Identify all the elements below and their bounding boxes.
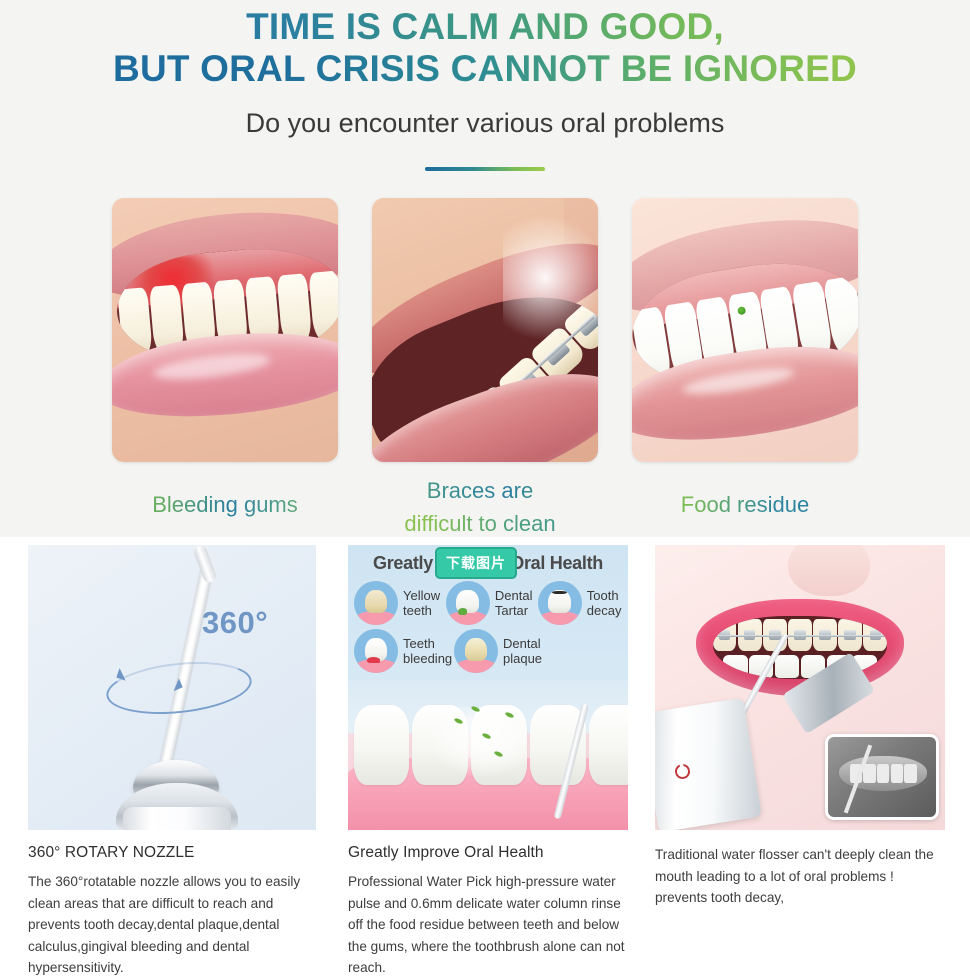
flosser-body — [123, 807, 231, 830]
teeth-bleeding-icon — [354, 629, 398, 673]
problem-photo-braces — [372, 198, 598, 462]
hero-section: TIME IS CALM AND GOOD, BUT ORAL CRISIS C… — [0, 0, 970, 537]
infographic-item-label: Teeth bleeding — [403, 636, 452, 666]
feature-body: The 360°rotatable nozzle allows you to e… — [28, 871, 316, 979]
feature-image-rotary-nozzle: 360° — [28, 545, 316, 830]
infographic-row: Yellow teeth Dental Tartar — [354, 581, 626, 625]
problem-caption-braces: Braces are difficult to clean — [360, 474, 600, 540]
infographic-item-label: Dental plaque — [503, 636, 542, 666]
download-image-watermark-badge[interactable]: 下载图片 — [435, 547, 517, 579]
feature-body: Professional Water Pick high-pressure wa… — [348, 871, 628, 979]
label-line-1: Dental — [503, 636, 542, 651]
nose — [788, 545, 869, 596]
infographic-icon-grid: Yellow teeth Dental Tartar — [354, 581, 626, 677]
hero-subtitle: Do you encounter various oral problems — [0, 108, 970, 139]
caption-text: Bleeding gums — [105, 488, 345, 521]
feature-image-oral-health-infographic: Greatly Improve Oral Health 下载图片 Yellow … — [348, 545, 628, 830]
problem-caption-food-residue: Food residue — [625, 488, 865, 521]
grayscale-inset-photo — [825, 734, 939, 820]
headline-line-2: BUT ORAL CRISIS CANNOT BE IGNORED — [0, 48, 970, 90]
problem-photo-bleeding-gums — [112, 198, 338, 462]
headline-line-1: TIME IS CALM AND GOOD, — [0, 6, 970, 48]
teeth-water-jet-illustration — [348, 680, 628, 830]
infographic-item-label: Dental Tartar — [495, 588, 533, 618]
problem-photo-food-residue — [632, 198, 858, 462]
label-line-2: decay — [587, 603, 622, 618]
label-line-1: Teeth — [403, 636, 452, 651]
infographic-item-dental-plaque: Dental plaque — [454, 629, 554, 673]
yellow-teeth-icon — [354, 581, 398, 625]
label-line-1: Tooth — [587, 588, 622, 603]
braces-photo-illustration — [372, 198, 598, 462]
infographic-item-yellow-teeth: Yellow teeth — [354, 581, 446, 625]
dental-tartar-icon — [446, 581, 490, 625]
caption-text-line-1: Braces are — [360, 474, 600, 507]
feature-heading: 360° ROTARY NOZZLE — [28, 844, 316, 862]
infographic-item-teeth-bleeding: Teeth bleeding — [354, 629, 454, 673]
degree-badge-label: 360° — [202, 605, 268, 641]
infographic-item-label: Yellow teeth — [403, 588, 440, 618]
caption-text: Food residue — [625, 488, 865, 521]
gums-photo-illustration — [112, 198, 338, 462]
photo-flash-highlight — [503, 214, 598, 341]
problem-caption-bleeding-gums: Bleeding gums — [105, 488, 345, 521]
archwire — [713, 635, 887, 637]
caption-text-line-2: difficult to clean — [360, 507, 600, 540]
label-line-2: plaque — [503, 651, 542, 666]
feature-rotary-nozzle: 360° 360° ROTARY NOZZLE The 360°rotatabl… — [28, 545, 316, 979]
page-title: TIME IS CALM AND GOOD, BUT ORAL CRISIS C… — [0, 6, 970, 90]
label-line-2: teeth — [403, 603, 440, 618]
infographic-row: Teeth bleeding Dental plaque — [354, 629, 626, 673]
flosser-handheld-body — [655, 697, 762, 830]
food-residue-photo-illustration — [632, 198, 858, 462]
hero-divider — [425, 167, 545, 171]
feature-heading: Greatly Improve Oral Health — [348, 844, 628, 862]
label-line-1: Yellow — [403, 588, 440, 603]
feature-oral-health: Greatly Improve Oral Health 下载图片 Yellow … — [348, 545, 628, 979]
feature-image-braces-flosser — [655, 545, 945, 830]
feature-body: Traditional water flosser can't deeply c… — [655, 844, 945, 909]
tooth-decay-icon — [538, 581, 582, 625]
infographic-item-tooth-decay: Tooth decay — [538, 581, 626, 625]
dental-plaque-icon — [454, 629, 498, 673]
label-line-2: Tartar — [495, 603, 533, 618]
label-line-1: Dental — [495, 588, 533, 603]
feature-traditional-flosser: Traditional water flosser can't deeply c… — [655, 545, 945, 909]
infographic-item-dental-tartar: Dental Tartar — [446, 581, 538, 625]
infographic-item-label: Tooth decay — [587, 588, 622, 618]
label-line-2: bleeding — [403, 651, 452, 666]
